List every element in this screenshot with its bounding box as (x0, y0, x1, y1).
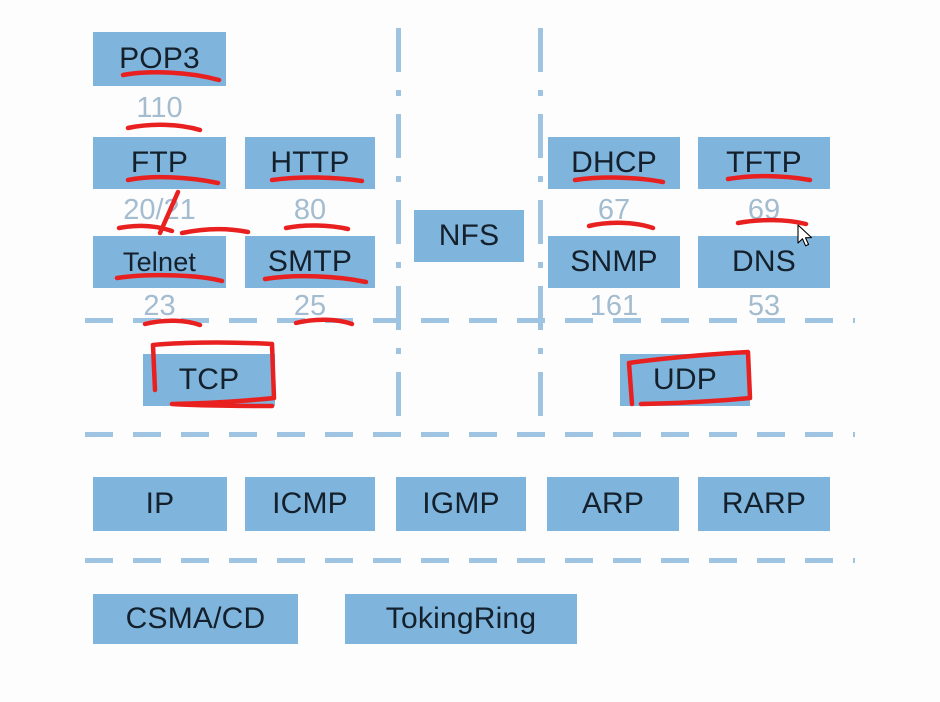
protocol-box-nfs[interactable]: NFS (414, 210, 524, 262)
network-link-divider (85, 558, 855, 563)
port-label-tftp: 69 (698, 196, 830, 225)
protocol-box-snmp[interactable]: SNMP (548, 236, 680, 288)
port-label-dhcp: 67 (548, 196, 680, 225)
protocol-box-tftp[interactable]: TFTP (698, 137, 830, 189)
protocol-box-igmp[interactable]: IGMP (396, 477, 526, 531)
protocol-label: TCP (179, 365, 240, 395)
protocol-box-dhcp[interactable]: DHCP (548, 137, 680, 189)
protocol-box-icmp[interactable]: ICMP (245, 477, 375, 531)
protocol-box-pop3[interactable]: POP3 (93, 32, 226, 86)
port-label-pop3: 110 (93, 94, 226, 123)
underline-port-20-21 (119, 226, 172, 231)
protocol-box-ip[interactable]: IP (93, 477, 227, 531)
protocol-box-tcp[interactable]: TCP (143, 354, 275, 406)
transport-network-divider (85, 432, 855, 437)
protocol-label: CSMA/CD (126, 604, 266, 634)
port-label-dns: 53 (698, 292, 830, 321)
mouse-cursor (797, 224, 817, 250)
protocol-box-smtp[interactable]: SMTP (245, 236, 375, 288)
protocol-label: RARP (722, 489, 806, 519)
protocol-label: POP3 (119, 44, 200, 74)
protocol-label: UDP (653, 365, 717, 395)
protocol-label: SNMP (570, 247, 657, 277)
protocol-label: HTTP (270, 148, 349, 178)
protocol-label: ICMP (272, 489, 348, 519)
protocol-label: NFS (439, 221, 500, 251)
protocol-box-rarp[interactable]: RARP (698, 477, 830, 531)
port-label-smtp: 25 (245, 292, 375, 321)
protocol-box-ftp[interactable]: FTP (93, 137, 226, 189)
underline-port-110 (128, 125, 200, 130)
protocol-label: ARP (582, 489, 644, 519)
underline-port-21 (182, 229, 248, 233)
protocol-label: SMTP (268, 247, 352, 277)
protocol-box-tokingring[interactable]: TokingRing (345, 594, 577, 644)
port-label-telnet: 23 (93, 292, 226, 321)
protocol-label: FTP (131, 148, 188, 178)
left-column-separator (396, 28, 401, 436)
protocol-label: IGMP (422, 489, 499, 519)
port-label-http: 80 (245, 196, 375, 225)
protocol-box-arp[interactable]: ARP (547, 477, 679, 531)
protocol-box-csma-cd[interactable]: CSMA/CD (93, 594, 298, 644)
protocol-label: TFTP (726, 148, 802, 178)
protocol-box-udp[interactable]: UDP (620, 354, 750, 406)
protocol-label: IP (146, 489, 175, 519)
protocol-box-http[interactable]: HTTP (245, 137, 375, 189)
protocol-label: Telnet (123, 249, 196, 276)
protocol-label: TokingRing (386, 604, 536, 634)
port-label-snmp: 161 (548, 292, 680, 321)
protocol-stack-diagram: POP3 110 FTP 20/21 HTTP 80 Telnet 23 SMT… (0, 0, 940, 702)
protocol-label: DHCP (571, 148, 657, 178)
protocol-box-telnet[interactable]: Telnet (93, 236, 226, 288)
port-label-ftp: 20/21 (93, 196, 226, 225)
right-column-separator (538, 28, 543, 436)
protocol-label: DNS (732, 247, 796, 277)
